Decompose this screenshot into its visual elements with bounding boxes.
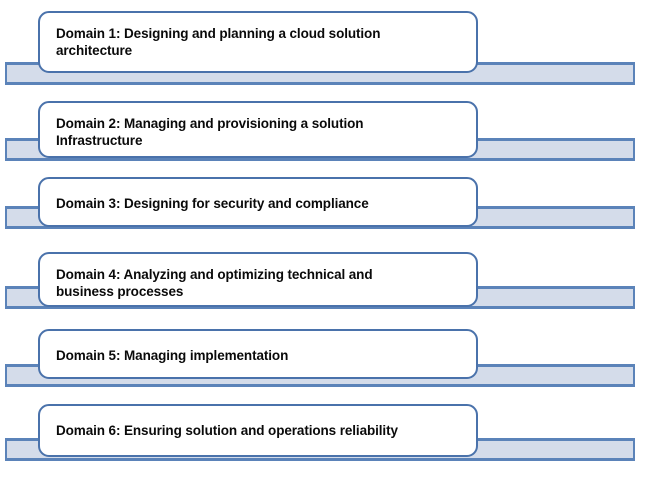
domain-row: Domain 5: Managing implementation xyxy=(0,321,645,393)
domain-label: Domain 1: Designing and planning a cloud… xyxy=(40,13,394,60)
domain-label: Domain 2: Managing and provisioning a so… xyxy=(40,103,377,150)
domain-callout-box[interactable]: Domain 6: Ensuring solution and operatio… xyxy=(38,404,478,457)
domain-row: Domain 4: Analyzing and optimizing techn… xyxy=(0,243,645,321)
domain-callout-box[interactable]: Domain 4: Analyzing and optimizing techn… xyxy=(38,252,478,307)
domain-callout-box[interactable]: Domain 2: Managing and provisioning a so… xyxy=(38,101,478,158)
domain-label: Domain 3: Designing for security and com… xyxy=(40,179,383,212)
domain-label: Domain 5: Managing implementation xyxy=(40,331,302,364)
domain-row: Domain 6: Ensuring solution and operatio… xyxy=(0,393,645,486)
domain-label: Domain 6: Ensuring solution and operatio… xyxy=(40,406,412,439)
domain-callout-box[interactable]: Domain 3: Designing for security and com… xyxy=(38,177,478,227)
domain-row: Domain 1: Designing and planning a cloud… xyxy=(0,0,645,96)
domains-diagram: Domain 1: Designing and planning a cloud… xyxy=(0,0,645,486)
domain-row: Domain 2: Managing and provisioning a so… xyxy=(0,90,645,168)
domain-callout-box[interactable]: Domain 5: Managing implementation xyxy=(38,329,478,379)
domain-label: Domain 4: Analyzing and optimizing techn… xyxy=(40,254,386,301)
domain-row: Domain 3: Designing for security and com… xyxy=(0,168,645,243)
domain-callout-box[interactable]: Domain 1: Designing and planning a cloud… xyxy=(38,11,478,73)
